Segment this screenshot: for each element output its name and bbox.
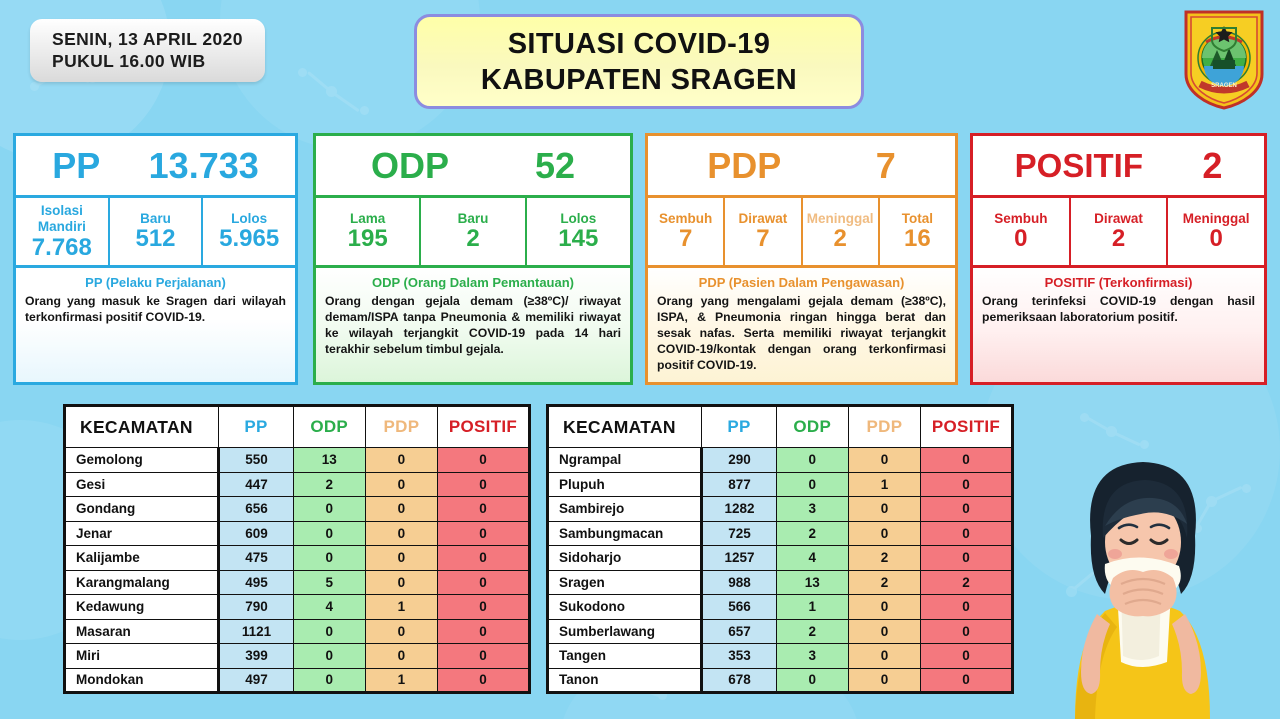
cell-positif: 0 bbox=[437, 619, 529, 644]
col-header-kecamatan: KECAMATAN bbox=[548, 406, 702, 448]
summary-card-odp: ODP 52 Lama 195 Baru 2 Lolos 145 ODP (Or… bbox=[313, 133, 633, 385]
col-header-kecamatan: KECAMATAN bbox=[65, 406, 219, 448]
card-odp-description: ODP (Orang Dalam Pemantauan) Orang denga… bbox=[316, 268, 630, 382]
cell-pp: 399 bbox=[219, 644, 293, 669]
cell-odp: 0 bbox=[293, 521, 365, 546]
cell-odp: 2 bbox=[293, 472, 365, 497]
card-odp-header: ODP 52 bbox=[316, 136, 630, 198]
cell-pp: 290 bbox=[702, 448, 776, 473]
cell-odp: 2 bbox=[776, 521, 848, 546]
card-pdp-value-dirawat: 7 bbox=[756, 226, 769, 252]
card-pp-desc-title: PP (Pelaku Perjalanan) bbox=[25, 274, 286, 291]
col-header-pp: PP bbox=[219, 406, 293, 448]
cell-pdp: 0 bbox=[365, 497, 437, 522]
cell-positif: 0 bbox=[437, 521, 529, 546]
cell-pdp: 0 bbox=[848, 448, 920, 473]
card-positif-label-sembuh: Sembuh bbox=[994, 211, 1047, 226]
cell-kecamatan: Sidoharjo bbox=[548, 546, 702, 571]
card-pdp-desc-title: PDP (Pasien Dalam Pengawasan) bbox=[657, 274, 946, 291]
cell-kecamatan: Masaran bbox=[65, 619, 219, 644]
cell-odp: 3 bbox=[776, 644, 848, 669]
card-pp-desc-body: Orang yang masuk ke Sragen dari wilayah … bbox=[25, 293, 286, 325]
cell-odp: 0 bbox=[776, 668, 848, 693]
kecamatan-table-left: KECAMATAN PP ODP PDP POSITIF Gemolong550… bbox=[63, 404, 531, 694]
cell-pdp: 0 bbox=[365, 546, 437, 571]
card-pdp-desc-body: Orang yang mengalami gejala demam (≥38ºC… bbox=[657, 293, 946, 373]
cell-pdp: 0 bbox=[848, 521, 920, 546]
infographic-page: SENIN, 13 APRIL 2020 PUKUL 16.00 WIB SIT… bbox=[0, 0, 1280, 719]
table-row: Sambirejo1282300 bbox=[548, 497, 1013, 522]
card-odp-label-lama: Lama bbox=[350, 211, 385, 226]
card-pp-name: PP bbox=[52, 145, 100, 187]
cell-positif: 0 bbox=[921, 497, 1013, 522]
table-row: Sumberlawang657200 bbox=[548, 619, 1013, 644]
cell-odp: 0 bbox=[293, 644, 365, 669]
card-positif-value-sembuh: 0 bbox=[1014, 226, 1027, 252]
card-pdp-name: PDP bbox=[707, 145, 781, 187]
card-pdp-value-sembuh: 7 bbox=[679, 226, 692, 252]
card-pdp-total: 7 bbox=[876, 145, 896, 187]
cell-kecamatan: Mondokan bbox=[65, 668, 219, 693]
cell-positif: 0 bbox=[437, 497, 529, 522]
cell-positif: 0 bbox=[921, 668, 1013, 693]
cell-pp: 497 bbox=[219, 668, 293, 693]
card-pp-label-baru: Baru bbox=[140, 211, 171, 226]
card-positif-subrow: Sembuh 0 Dirawat 2 Meninggal 0 bbox=[973, 198, 1264, 268]
card-positif-label-dirawat: Dirawat bbox=[1094, 211, 1143, 226]
cell-pdp: 0 bbox=[848, 595, 920, 620]
card-positif-description: POSITIF (Terkonfirmasi) Orang terinfeksi… bbox=[973, 268, 1264, 382]
cell-kecamatan: Sambirejo bbox=[548, 497, 702, 522]
card-positif-name: POSITIF bbox=[1015, 147, 1143, 185]
card-pdp-subrow: Sembuh 7 Dirawat 7 Meninggal 2 Total 16 bbox=[648, 198, 955, 268]
table-row: Tangen353300 bbox=[548, 644, 1013, 669]
table-row: Mondokan497010 bbox=[65, 668, 530, 693]
col-header-positif: POSITIF bbox=[437, 406, 529, 448]
card-pdp-value-meninggal: 2 bbox=[833, 226, 846, 252]
summary-card-pdp: PDP 7 Sembuh 7 Dirawat 7 Meninggal 2 Tot… bbox=[645, 133, 958, 385]
page-title: SITUASI COVID-19 KABUPATEN SRAGEN bbox=[414, 14, 864, 109]
card-odp-cell-baru: Baru 2 bbox=[421, 198, 526, 265]
table-row: Gondang656000 bbox=[65, 497, 530, 522]
card-pp-header: PP 13.733 bbox=[16, 136, 295, 198]
cell-positif: 0 bbox=[921, 644, 1013, 669]
cell-positif: 0 bbox=[921, 448, 1013, 473]
cell-pp: 790 bbox=[219, 595, 293, 620]
table-header-row: KECAMATAN PP ODP PDP POSITIF bbox=[548, 406, 1013, 448]
cell-pp: 495 bbox=[219, 570, 293, 595]
title-line-1: SITUASI COVID-19 bbox=[508, 26, 771, 62]
table-row: Miri399000 bbox=[65, 644, 530, 669]
card-positif-value-meninggal: 0 bbox=[1210, 226, 1223, 252]
card-odp-label-baru: Baru bbox=[458, 211, 489, 226]
card-pdp-cell-sembuh: Sembuh 7 bbox=[648, 198, 725, 265]
card-odp-subrow: Lama 195 Baru 2 Lolos 145 bbox=[316, 198, 630, 268]
cell-kecamatan: Sukodono bbox=[548, 595, 702, 620]
summary-card-positif: POSITIF 2 Sembuh 0 Dirawat 2 Meninggal 0… bbox=[970, 133, 1267, 385]
cell-kecamatan: Tanon bbox=[548, 668, 702, 693]
card-pp-total: 13.733 bbox=[149, 145, 259, 187]
card-pdp-description: PDP (Pasien Dalam Pengawasan) Orang yang… bbox=[648, 268, 955, 382]
cell-kecamatan: Kalijambe bbox=[65, 546, 219, 571]
cell-pdp: 0 bbox=[848, 668, 920, 693]
card-pdp-cell-dirawat: Dirawat 7 bbox=[725, 198, 802, 265]
cell-pdp: 0 bbox=[365, 472, 437, 497]
card-odp-value-lama: 195 bbox=[348, 226, 388, 252]
cell-pp: 877 bbox=[702, 472, 776, 497]
cell-kecamatan: Sragen bbox=[548, 570, 702, 595]
cell-odp: 0 bbox=[776, 448, 848, 473]
card-pp-cell-lolos: Lolos 5.965 bbox=[203, 198, 295, 265]
cell-positif: 0 bbox=[437, 472, 529, 497]
cell-positif: 0 bbox=[921, 546, 1013, 571]
card-pdp-label-total: Total bbox=[902, 211, 933, 226]
cell-pdp: 1 bbox=[365, 668, 437, 693]
col-header-pdp: PDP bbox=[848, 406, 920, 448]
cell-positif: 0 bbox=[921, 619, 1013, 644]
cell-pdp: 1 bbox=[365, 595, 437, 620]
cell-pp: 678 bbox=[702, 668, 776, 693]
card-pdp-cell-total: Total 16 bbox=[880, 198, 955, 265]
card-pdp-header: PDP 7 bbox=[648, 136, 955, 198]
table-row: Sukodono566100 bbox=[548, 595, 1013, 620]
table-row: Sragen9881322 bbox=[548, 570, 1013, 595]
card-pdp-value-total: 16 bbox=[904, 226, 931, 252]
cell-odp: 1 bbox=[776, 595, 848, 620]
title-line-2: KABUPATEN SRAGEN bbox=[481, 62, 797, 98]
table-row: Sambungmacan725200 bbox=[548, 521, 1013, 546]
cell-odp: 13 bbox=[293, 448, 365, 473]
table-row: Masaran1121000 bbox=[65, 619, 530, 644]
card-pp-label-lolos: Lolos bbox=[231, 211, 267, 226]
cell-pdp: 0 bbox=[848, 644, 920, 669]
cell-positif: 2 bbox=[921, 570, 1013, 595]
cell-kecamatan: Sambungmacan bbox=[548, 521, 702, 546]
table-row: Tanon678000 bbox=[548, 668, 1013, 693]
cell-pp: 988 bbox=[702, 570, 776, 595]
cell-odp: 3 bbox=[776, 497, 848, 522]
card-pdp-label-sembuh: Sembuh bbox=[659, 211, 712, 226]
cell-kecamatan: Karangmalang bbox=[65, 570, 219, 595]
cell-kecamatan: Gondang bbox=[65, 497, 219, 522]
card-pp-description: PP (Pelaku Perjalanan) Orang yang masuk … bbox=[16, 268, 295, 382]
card-positif-header: POSITIF 2 bbox=[973, 136, 1264, 198]
cell-pdp: 0 bbox=[848, 497, 920, 522]
table-row: Gemolong5501300 bbox=[65, 448, 530, 473]
cell-positif: 0 bbox=[921, 595, 1013, 620]
cell-pp: 447 bbox=[219, 472, 293, 497]
table-row: Plupuh877010 bbox=[548, 472, 1013, 497]
card-positif-cell-meninggal: Meninggal 0 bbox=[1168, 198, 1264, 265]
cell-kecamatan: Gemolong bbox=[65, 448, 219, 473]
cell-pdp: 0 bbox=[365, 644, 437, 669]
cell-odp: 4 bbox=[776, 546, 848, 571]
card-odp-total: 52 bbox=[535, 145, 575, 187]
cell-positif: 0 bbox=[437, 546, 529, 571]
date-line-2: PUKUL 16.00 WIB bbox=[52, 50, 243, 72]
cell-pdp: 2 bbox=[848, 570, 920, 595]
kecamatan-table-right: KECAMATAN PP ODP PDP POSITIF Ngrampal290… bbox=[546, 404, 1014, 694]
card-pdp-label-dirawat: Dirawat bbox=[738, 211, 787, 226]
woman-covering-mouth-with-tissue-illustration bbox=[1035, 444, 1250, 719]
col-header-pdp: PDP bbox=[365, 406, 437, 448]
cell-pdp: 2 bbox=[848, 546, 920, 571]
col-header-odp: ODP bbox=[776, 406, 848, 448]
cell-positif: 0 bbox=[437, 448, 529, 473]
cell-positif: 0 bbox=[921, 521, 1013, 546]
card-pp-subrow: Isolasi Mandiri 7.768 Baru 512 Lolos 5.9… bbox=[16, 198, 295, 268]
cell-kecamatan: Kedawung bbox=[65, 595, 219, 620]
kabupaten-sragen-logo-icon: SRAGEN bbox=[1180, 8, 1268, 112]
col-header-pp: PP bbox=[702, 406, 776, 448]
cell-pp: 475 bbox=[219, 546, 293, 571]
card-pp-value-isolasi-mandiri: 7.768 bbox=[32, 235, 92, 261]
summary-cards: PP 13.733 Isolasi Mandiri 7.768 Baru 512… bbox=[0, 133, 1280, 385]
cell-pp: 550 bbox=[219, 448, 293, 473]
table-row: Sidoharjo1257420 bbox=[548, 546, 1013, 571]
svg-text:SRAGEN: SRAGEN bbox=[1211, 83, 1237, 89]
cell-kecamatan: Ngrampal bbox=[548, 448, 702, 473]
cell-pp: 609 bbox=[219, 521, 293, 546]
col-header-positif: POSITIF bbox=[921, 406, 1013, 448]
card-pp-value-lolos: 5.965 bbox=[219, 226, 279, 252]
cell-pp: 1121 bbox=[219, 619, 293, 644]
card-odp-cell-lolos: Lolos 145 bbox=[527, 198, 630, 265]
cell-kecamatan: Jenar bbox=[65, 521, 219, 546]
table-row: Ngrampal290000 bbox=[548, 448, 1013, 473]
col-header-odp: ODP bbox=[293, 406, 365, 448]
card-odp-desc-body: Orang dengan gejala demam (≥38ºC)/ riway… bbox=[325, 293, 621, 357]
card-odp-label-lolos: Lolos bbox=[560, 211, 596, 226]
table-row: Jenar609000 bbox=[65, 521, 530, 546]
cell-odp: 0 bbox=[293, 619, 365, 644]
cell-pp: 1257 bbox=[702, 546, 776, 571]
card-positif-cell-sembuh: Sembuh 0 bbox=[973, 198, 1071, 265]
cell-pp: 566 bbox=[702, 595, 776, 620]
cell-positif: 0 bbox=[921, 472, 1013, 497]
cell-positif: 0 bbox=[437, 644, 529, 669]
card-pp-label-isolasi-mandiri: Isolasi Mandiri bbox=[16, 203, 108, 235]
card-odp-value-baru: 2 bbox=[466, 226, 479, 252]
cell-kecamatan: Plupuh bbox=[548, 472, 702, 497]
cell-kecamatan: Sumberlawang bbox=[548, 619, 702, 644]
card-positif-label-meninggal: Meninggal bbox=[1183, 211, 1250, 226]
card-pdp-label-meninggal: Meninggal bbox=[807, 211, 874, 226]
card-odp-cell-lama: Lama 195 bbox=[316, 198, 421, 265]
table-header-row: KECAMATAN PP ODP PDP POSITIF bbox=[65, 406, 530, 448]
table-row: Kedawung790410 bbox=[65, 595, 530, 620]
cell-positif: 0 bbox=[437, 595, 529, 620]
cell-odp: 0 bbox=[293, 546, 365, 571]
cell-odp: 5 bbox=[293, 570, 365, 595]
cell-pp: 1282 bbox=[702, 497, 776, 522]
cell-odp: 0 bbox=[776, 472, 848, 497]
cell-odp: 0 bbox=[293, 668, 365, 693]
date-line-1: SENIN, 13 APRIL 2020 bbox=[52, 28, 243, 50]
cell-pdp: 0 bbox=[365, 521, 437, 546]
cell-positif: 0 bbox=[437, 668, 529, 693]
card-positif-value-dirawat: 2 bbox=[1112, 226, 1125, 252]
table-row: Gesi447200 bbox=[65, 472, 530, 497]
card-odp-desc-title: ODP (Orang Dalam Pemantauan) bbox=[325, 274, 621, 291]
table-row: Karangmalang495500 bbox=[65, 570, 530, 595]
card-positif-desc-title: POSITIF (Terkonfirmasi) bbox=[982, 274, 1255, 291]
cell-odp: 2 bbox=[776, 619, 848, 644]
cell-pdp: 0 bbox=[365, 619, 437, 644]
card-positif-desc-body: Orang terinfeksi COVID-19 dengan hasil p… bbox=[982, 293, 1255, 325]
card-positif-total: 2 bbox=[1202, 145, 1222, 187]
cell-kecamatan: Gesi bbox=[65, 472, 219, 497]
cell-positif: 0 bbox=[437, 570, 529, 595]
cell-odp: 13 bbox=[776, 570, 848, 595]
cell-pp: 725 bbox=[702, 521, 776, 546]
summary-card-pp: PP 13.733 Isolasi Mandiri 7.768 Baru 512… bbox=[13, 133, 298, 385]
cell-pdp: 0 bbox=[848, 619, 920, 644]
cell-pp: 657 bbox=[702, 619, 776, 644]
card-pp-cell-baru: Baru 512 bbox=[110, 198, 204, 265]
cell-pdp: 0 bbox=[365, 448, 437, 473]
table-row: Kalijambe475000 bbox=[65, 546, 530, 571]
cell-odp: 0 bbox=[293, 497, 365, 522]
card-odp-value-lolos: 145 bbox=[558, 226, 598, 252]
date-badge: SENIN, 13 APRIL 2020 PUKUL 16.00 WIB bbox=[30, 19, 265, 82]
cell-pp: 353 bbox=[702, 644, 776, 669]
cell-odp: 4 bbox=[293, 595, 365, 620]
card-positif-cell-dirawat: Dirawat 2 bbox=[1071, 198, 1169, 265]
card-pp-cell-isolasi-mandiri: Isolasi Mandiri 7.768 bbox=[16, 198, 110, 265]
cell-kecamatan: Tangen bbox=[548, 644, 702, 669]
card-odp-name: ODP bbox=[371, 145, 449, 187]
cell-kecamatan: Miri bbox=[65, 644, 219, 669]
cell-pdp: 0 bbox=[365, 570, 437, 595]
card-pdp-cell-meninggal: Meninggal 2 bbox=[803, 198, 880, 265]
cell-pp: 656 bbox=[219, 497, 293, 522]
card-pp-value-baru: 512 bbox=[135, 226, 175, 252]
cell-pdp: 1 bbox=[848, 472, 920, 497]
